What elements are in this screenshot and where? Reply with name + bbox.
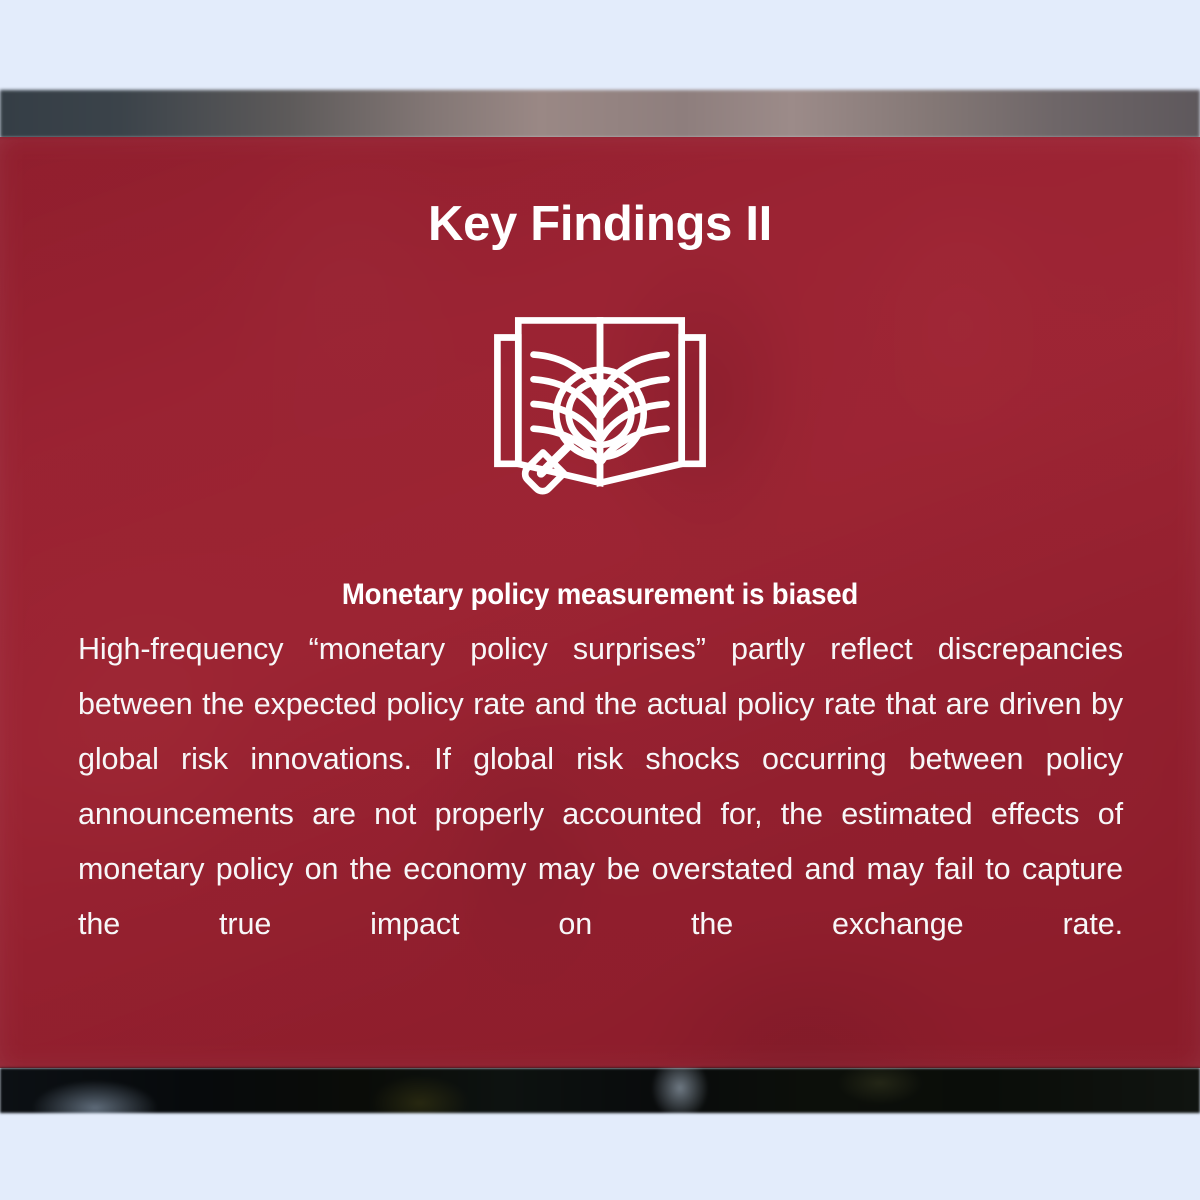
bottom-photo-strip xyxy=(0,1068,1200,1113)
body-subtitle: Monetary policy measurement is biased xyxy=(48,578,1152,612)
body-paragraph: High-frequency “monetary policy surprise… xyxy=(78,622,1123,1007)
panel-content: Key Findings II xyxy=(0,137,1200,1068)
book-magnifier-icon xyxy=(486,309,714,499)
slide-title: Key Findings II xyxy=(0,198,1200,252)
red-content-panel: Key Findings II xyxy=(0,137,1200,1068)
top-photo-strip xyxy=(0,90,1200,138)
slide-frame: Key Findings II xyxy=(0,0,1200,1200)
